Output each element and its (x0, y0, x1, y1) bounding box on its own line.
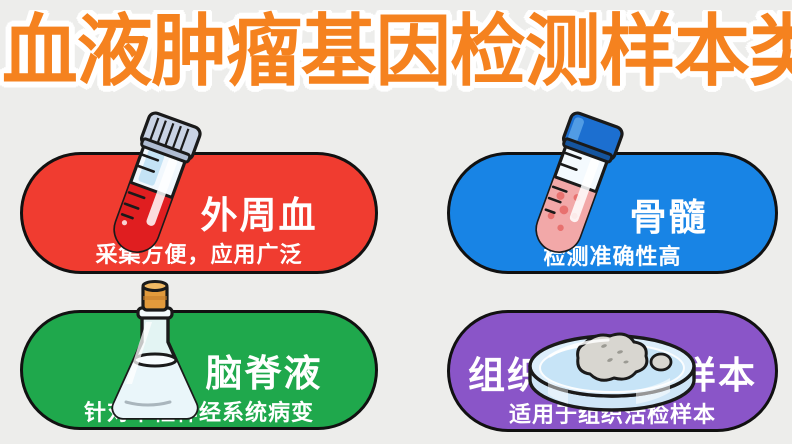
page-title-text: 血液肿瘤基因检测样本类型 (2, 10, 792, 98)
bone-marrow-tube-icon (518, 108, 630, 268)
poster-canvas: 血液肿瘤基因检测样本类型 外周血 采集方便，应用广泛 骨髓 检测准确性高 脑脊液… (0, 0, 792, 444)
corked-flask-icon (96, 280, 214, 432)
page-title: 血液肿瘤基因检测样本类型 (0, 10, 792, 102)
blood-collection-tube-icon (96, 108, 208, 268)
petri-dish-icon (524, 318, 700, 430)
